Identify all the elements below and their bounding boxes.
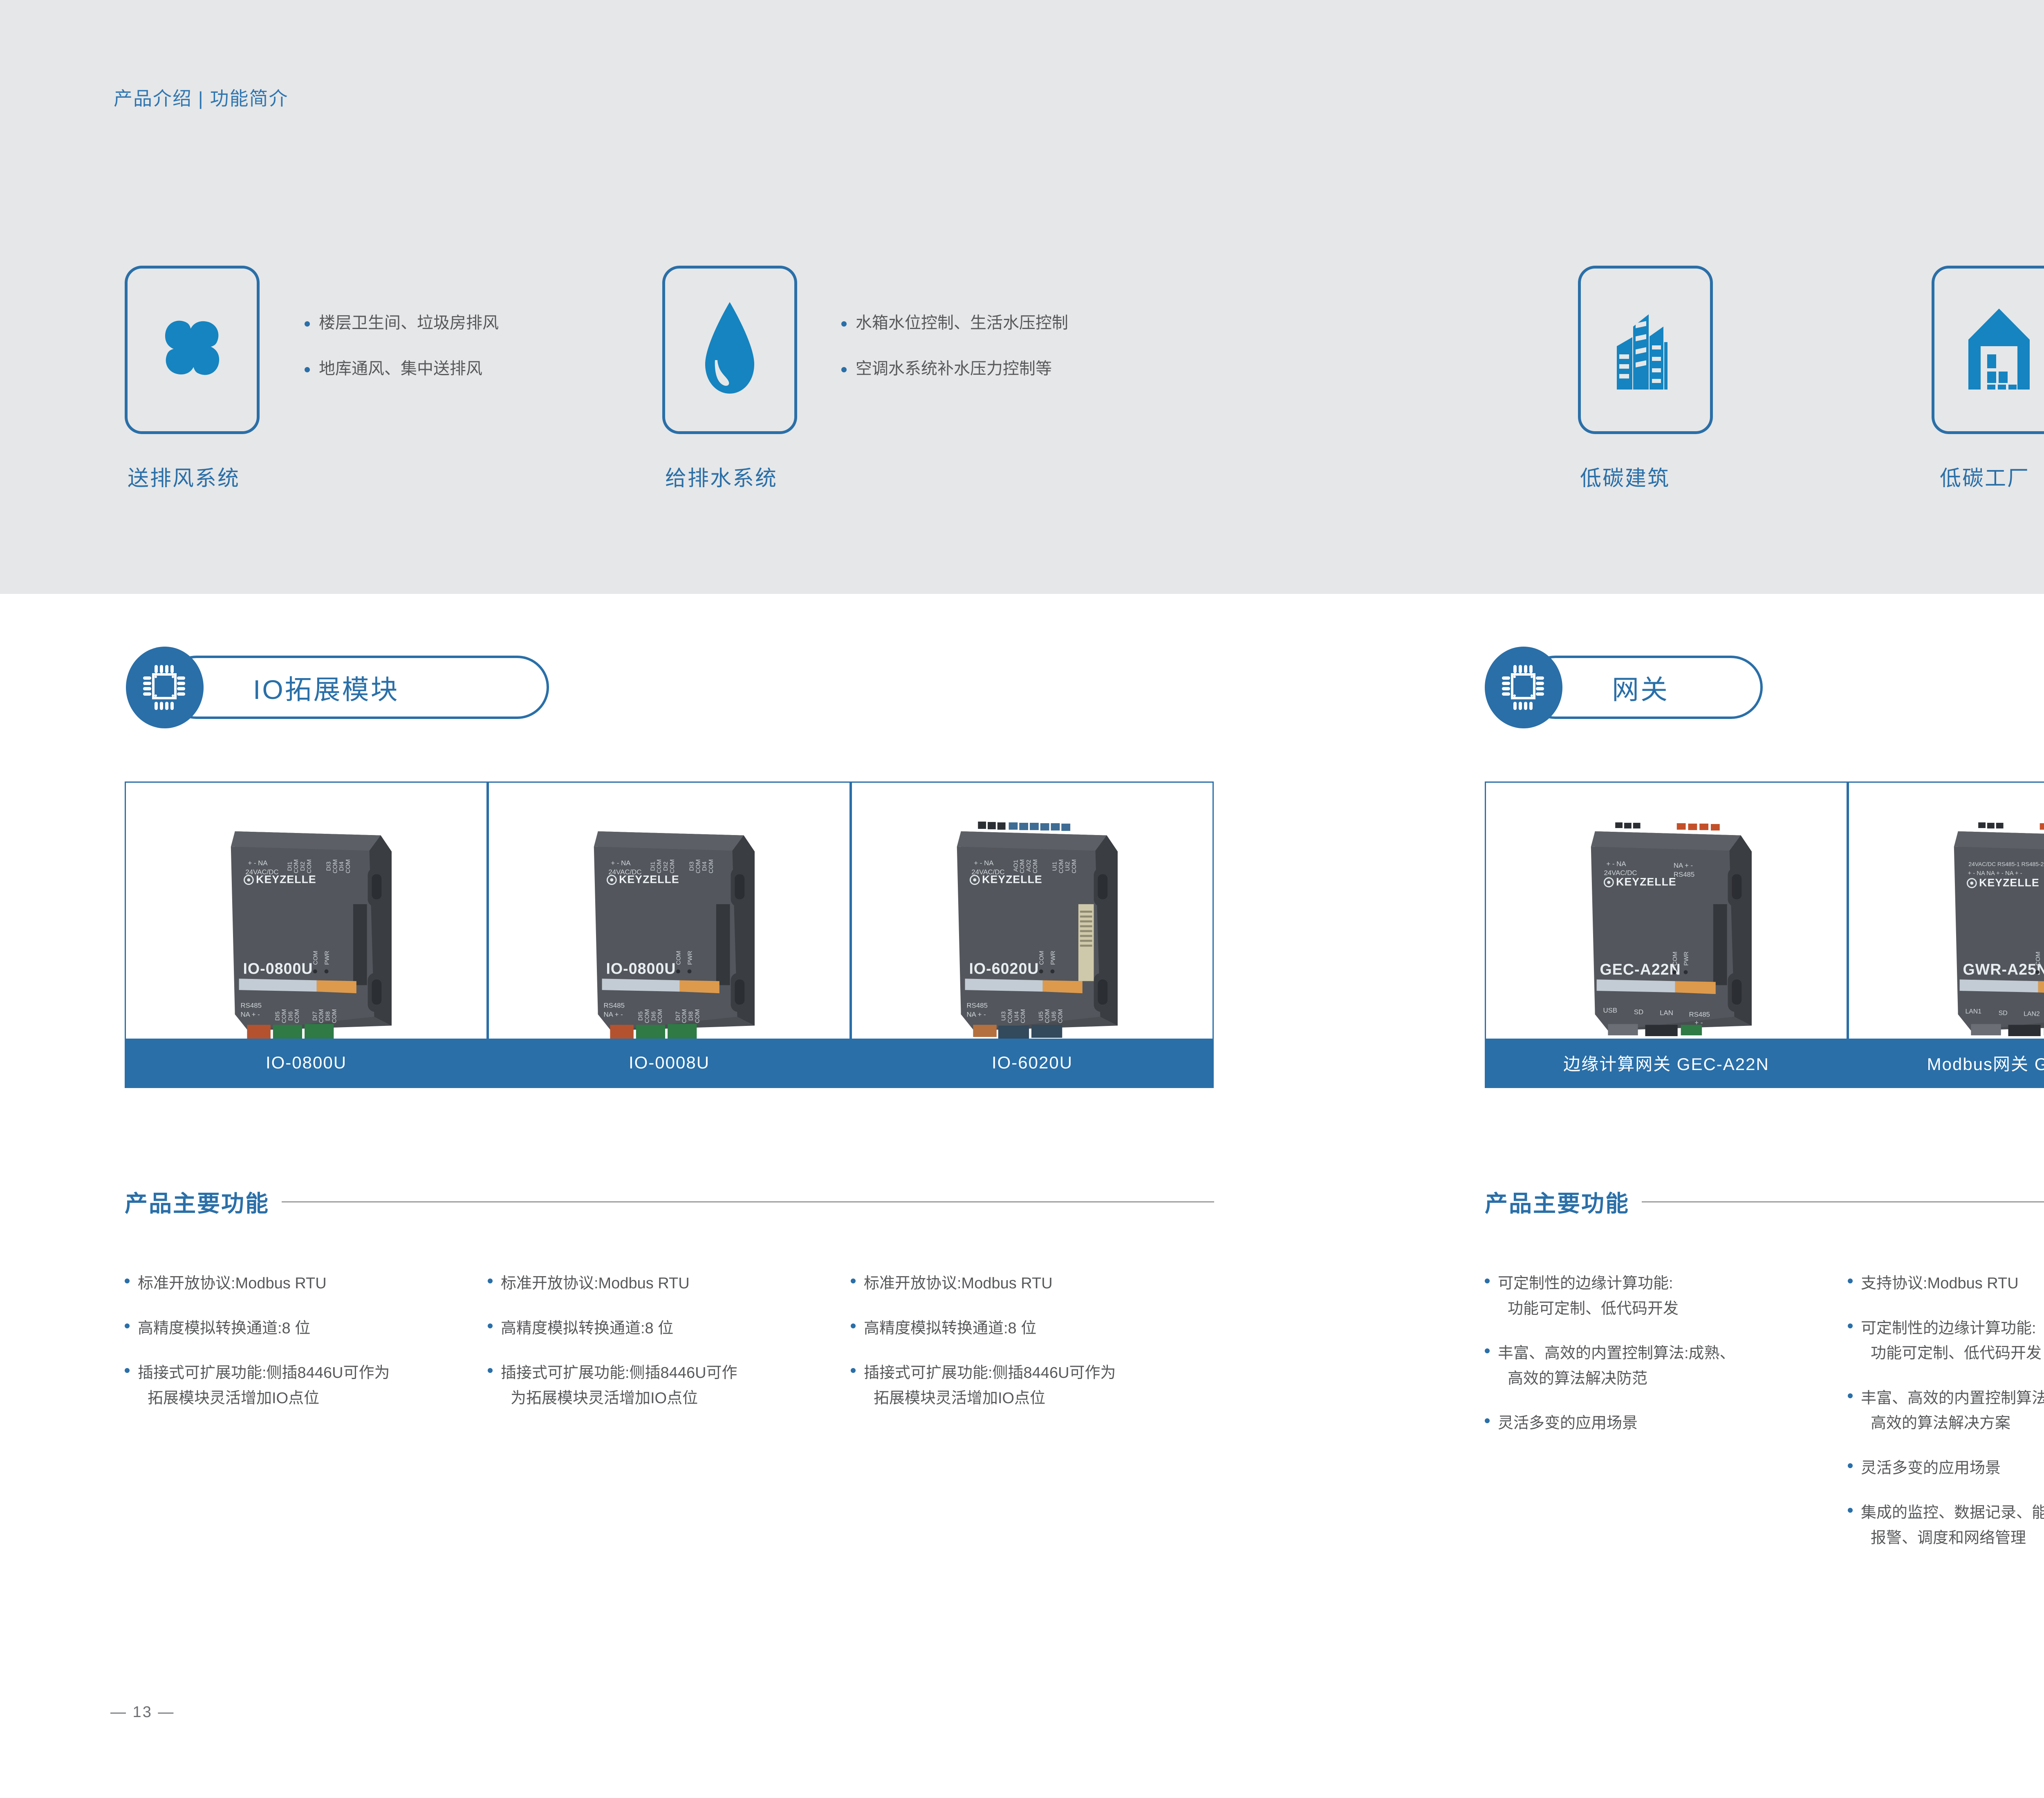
svg-text:DI1: DI1	[650, 862, 656, 871]
svg-text:COM: COM	[1019, 859, 1026, 873]
svg-text:COM: COM	[345, 859, 352, 873]
svg-text:COM: COM	[676, 951, 682, 965]
brochure-spread: 产品介绍 | 功能简介 产品介绍 | 功能简介 楼层卫生间、垃圾房排风 地库通风…	[0, 0, 2044, 1798]
section-badge-label-io: IO拓展模块	[253, 668, 399, 707]
feature-item: 灵活多变的应用场景	[1848, 1456, 2044, 1481]
svg-text:PWR: PWR	[1683, 952, 1690, 966]
bullet-dot	[841, 367, 847, 372]
heading-rule	[1642, 1201, 2044, 1202]
feature-line: 灵活多变的应用场景	[1861, 1460, 2001, 1477]
svg-text:COM: COM	[708, 859, 715, 873]
top-grey-band	[0, 0, 2044, 594]
svg-text:COM: COM	[1039, 951, 1045, 965]
feature-line: 拓展模块灵活增加IO点位	[864, 1390, 1045, 1407]
feature-line: 拓展模块灵活增加IO点位	[138, 1390, 319, 1407]
svg-text:COM: COM	[332, 859, 338, 873]
svg-text:NA + -: NA + -	[1674, 862, 1693, 869]
fan-icon	[151, 306, 233, 394]
product-photo-gec-a22n: + - NA 24VAC/DC NA + - RS485 KEYZELLE GE…	[1486, 783, 1847, 1039]
svg-text:COM: COM	[2035, 952, 2042, 966]
svg-text:UI3: UI3	[1001, 1011, 1007, 1021]
feature-item: 插接式可扩展功能:侧插8446U可作为 拓展模块灵活增加IO点位	[125, 1361, 464, 1411]
svg-text:COM: COM	[695, 859, 702, 873]
svg-text:KEYZELLE: KEYZELLE	[1616, 876, 1676, 888]
feature-dot	[851, 1279, 856, 1283]
bullet-item: 楼层卫生间、垃圾房排风	[305, 315, 499, 331]
chip-icon	[1485, 647, 1562, 728]
page-number-left: — 13 —	[110, 1704, 175, 1721]
feature-item: 集成的监控、数据记录、能耗计量、 报警、调度和网络管理	[1848, 1500, 2044, 1551]
water-drop-icon	[697, 299, 762, 401]
feature-dot	[125, 1323, 130, 1328]
svg-text:COM: COM	[1672, 952, 1679, 966]
feature-dot	[851, 1368, 856, 1373]
svg-text:RS485: RS485	[967, 1002, 988, 1010]
svg-text:UI5: UI5	[1038, 1011, 1044, 1021]
svg-text:NA + -: NA + -	[241, 1011, 260, 1019]
feature-dot	[125, 1279, 130, 1283]
feature-line: 灵活多变的应用场景	[1498, 1415, 1638, 1432]
svg-text:LAN1: LAN1	[1966, 1008, 1982, 1015]
feature-column: 标准开放协议:Modbus RTU 高精度模拟转换通道:8 位 插接式可扩展功能…	[488, 1271, 827, 1431]
svg-text:DI4: DI4	[702, 862, 708, 871]
svg-text:COM: COM	[656, 859, 663, 873]
svg-text:COM: COM	[281, 1009, 287, 1023]
heading-rule	[282, 1201, 1214, 1202]
svg-text:COM: COM	[1058, 859, 1065, 873]
feature-line: 插接式可扩展功能:侧插8446U可作为	[138, 1364, 390, 1382]
svg-text:KEYZELLE: KEYZELLE	[619, 873, 679, 886]
scenario-caption-building: 低碳建筑	[1580, 461, 1670, 492]
app-bullets-fan: 楼层卫生间、垃圾房排风 地库通风、集中送排风	[305, 315, 499, 377]
svg-text:UI4: UI4	[1013, 1011, 1020, 1021]
svg-text:DI5: DI5	[275, 1011, 281, 1021]
product-photo-io-0008u: + - NA 24VAC/DC DI1 COM DI2 COM DI3 COM …	[489, 783, 849, 1039]
section-badge-label-gateway: 网关	[1612, 668, 1669, 707]
product-label: 边缘计算网关 GEC-A22N	[1486, 1039, 1847, 1087]
svg-text:COM: COM	[313, 951, 319, 965]
feature-column: 可定制性的边缘计算功能: 功能可定制、低代码开发 丰富、高效的内置控制算法:成熟…	[1485, 1271, 1824, 1456]
svg-text:IO-0800U: IO-0800U	[243, 960, 313, 977]
svg-text:IO-0800U: IO-0800U	[606, 960, 676, 977]
chip-icon	[126, 647, 204, 728]
svg-text:DI7: DI7	[675, 1011, 681, 1021]
bullet-item: 空调水系统补水压力控制等	[841, 360, 1068, 377]
feature-line: 功能可定制、低代码开发	[1861, 1345, 2042, 1362]
svg-text:COM: COM	[1044, 1009, 1051, 1023]
factory-icon	[1964, 303, 2034, 397]
svg-text:DI6: DI6	[287, 1011, 294, 1021]
svg-text:DI8: DI8	[688, 1011, 694, 1021]
feature-dot	[488, 1323, 493, 1328]
feature-item: 插接式可扩展功能:侧插8446U可作 为拓展模块灵活增加IO点位	[488, 1361, 827, 1411]
svg-text:USB: USB	[1603, 1007, 1617, 1014]
feature-dot	[1848, 1393, 1853, 1398]
svg-text:SD: SD	[1999, 1010, 2008, 1017]
feature-item: 丰富、高效的内置控制算法:成熟、 高效的算法解决防范	[1485, 1341, 1824, 1391]
svg-text:+ - NA NA + - NA + -: + - NA NA + - NA + -	[1968, 870, 2022, 877]
bullet-text: 空调水系统补水压力控制等	[856, 360, 1052, 377]
feature-line: 标准开放协议:Modbus RTU	[864, 1275, 1053, 1292]
feature-dot	[851, 1323, 856, 1328]
product-card[interactable]: + - NA 24VAC/DC DI1 COM DI2 COM DI3 COM …	[125, 781, 488, 1088]
svg-text:UI2: UI2	[1065, 862, 1071, 871]
feature-line: 可定制性的边缘计算功能:	[1498, 1275, 1673, 1292]
feature-dot	[1848, 1279, 1853, 1283]
running-header-left: 产品介绍 | 功能简介	[114, 84, 289, 111]
svg-text:SD: SD	[1634, 1008, 1643, 1016]
feature-dot	[1485, 1348, 1490, 1353]
features-heading-io: 产品主要功能	[125, 1185, 1214, 1218]
svg-text:NA + -: NA + -	[604, 1011, 623, 1019]
feature-dot	[1485, 1418, 1490, 1423]
product-card[interactable]: + - NA 24VAC/DC AO1 COM AO2 COM UI1 COM …	[851, 781, 1214, 1088]
svg-text:COM: COM	[1057, 1009, 1064, 1023]
svg-text:PWR: PWR	[687, 951, 693, 965]
feature-dot	[1848, 1463, 1853, 1468]
product-photo-io-6020u: + - NA 24VAC/DC AO1 COM AO2 COM UI1 COM …	[852, 783, 1213, 1039]
svg-text:RS485: RS485	[1689, 1011, 1710, 1019]
feature-column: 标准开放协议:Modbus RTU 高精度模拟转换通道:8 位 插接式可扩展功能…	[125, 1271, 464, 1431]
feature-line: 功能可定制、低代码开发	[1498, 1300, 1679, 1317]
svg-text:KEYZELLE: KEYZELLE	[1979, 877, 2040, 889]
svg-text:KEYZELLE: KEYZELLE	[982, 873, 1042, 886]
svg-text:PWR: PWR	[324, 951, 330, 965]
feature-dot	[488, 1279, 493, 1283]
features-heading-text: 产品主要功能	[1485, 1185, 1629, 1218]
svg-text:LAN: LAN	[1660, 1009, 1673, 1017]
feature-item: 灵活多变的应用场景	[1485, 1411, 1824, 1436]
svg-text:IO-6020U: IO-6020U	[969, 960, 1039, 977]
feature-line: 高精度模拟转换通道:8 位	[501, 1320, 673, 1337]
features-heading-text: 产品主要功能	[125, 1185, 269, 1218]
svg-text:DI2: DI2	[663, 862, 669, 871]
feature-line: 丰富、高效的内置控制算法:成熟、	[1861, 1390, 2044, 1407]
feature-item: 可定制性的边缘计算功能: 功能可定制、低代码开发	[1848, 1316, 2044, 1366]
app-caption-fan: 送排风系统	[128, 461, 240, 492]
feature-item: 高精度模拟转换通道:8 位	[125, 1316, 464, 1341]
svg-text:DI8: DI8	[325, 1011, 331, 1021]
svg-text:DI7: DI7	[312, 1011, 318, 1021]
feature-line: 集成的监控、数据记录、能耗计量、	[1861, 1504, 2044, 1521]
svg-text:AO2: AO2	[1026, 860, 1032, 872]
feature-item: 可定制性的边缘计算功能: 功能可定制、低代码开发	[1485, 1271, 1824, 1321]
svg-text:UI6: UI6	[1051, 1011, 1057, 1021]
svg-text:COM: COM	[694, 1009, 701, 1023]
svg-text:PWR: PWR	[1050, 951, 1056, 965]
product-photo-io-0800u: + - NA 24VAC/DC DI1 COM DI2 COM DI3 COM …	[126, 783, 486, 1039]
feature-line: 高效的算法解决防范	[1498, 1370, 1647, 1387]
scenario-icon-frame-building	[1578, 266, 1713, 434]
feature-line: 可定制性的边缘计算功能:	[1861, 1320, 2036, 1337]
feature-column: 支持协议:Modbus RTU 可定制性的边缘计算功能: 功能可定制、低代码开发…	[1848, 1271, 2044, 1570]
svg-text:RS485: RS485	[1674, 871, 1694, 878]
product-label: IO-0800U	[126, 1039, 486, 1087]
product-label: IO-0008U	[489, 1039, 849, 1087]
feature-dot	[125, 1368, 130, 1373]
svg-text:COM: COM	[1007, 1009, 1013, 1023]
feature-line: 插接式可扩展功能:侧插8446U可作	[501, 1364, 737, 1382]
bullet-item: 地库通风、集中送排风	[305, 360, 499, 377]
svg-text:DI2: DI2	[300, 862, 306, 871]
svg-text:DI4: DI4	[338, 862, 345, 871]
feature-item: 高精度模拟转换通道:8 位	[851, 1316, 1190, 1341]
feature-dot	[1485, 1279, 1490, 1283]
svg-text:COM: COM	[294, 1009, 300, 1023]
app-caption-water: 给排水系统	[665, 461, 778, 492]
svg-text:NA + -: NA + -	[967, 1011, 986, 1019]
feature-line: 支持协议:Modbus RTU	[1861, 1275, 2019, 1292]
feature-item: 插接式可扩展功能:侧插8446U可作为 拓展模块灵活增加IO点位	[851, 1361, 1190, 1411]
product-card[interactable]: + - NA 24VAC/DC DI1 COM DI2 COM DI3 COM …	[488, 781, 851, 1088]
feature-line: 丰富、高效的内置控制算法:成熟、	[1498, 1345, 1735, 1362]
product-card[interactable]: + - NA 24VAC/DC NA + - RS485 KEYZELLE GE…	[1485, 781, 1848, 1088]
office-building-icon	[1609, 303, 1682, 397]
svg-text:LAN2: LAN2	[2024, 1011, 2040, 1018]
feature-line: 报警、调度和网络管理	[1861, 1529, 2026, 1547]
feature-item: 标准开放协议:Modbus RTU	[125, 1271, 464, 1296]
feature-item: 支持协议:Modbus RTU	[1848, 1271, 2044, 1296]
bullet-text: 地库通风、集中送排风	[319, 360, 482, 377]
bullet-dot	[305, 321, 310, 327]
svg-text:COM: COM	[669, 859, 676, 873]
feature-line: 高精度模拟转换通道:8 位	[138, 1320, 310, 1337]
feature-line: 标准开放协议:Modbus RTU	[138, 1275, 327, 1292]
bullet-item: 水箱水位控制、生活水压控制	[841, 315, 1068, 331]
svg-text:DI5: DI5	[638, 1011, 644, 1021]
svg-text:DI1: DI1	[287, 862, 293, 871]
app-icon-frame-fan	[125, 266, 260, 434]
svg-text:UI1: UI1	[1051, 862, 1058, 871]
svg-text:24VAC/DC RS485-1 RS485-2: 24VAC/DC RS485-1 RS485-2	[1968, 861, 2044, 867]
bullet-text: 楼层卫生间、垃圾房排风	[319, 315, 499, 331]
svg-text:+ - NA: + - NA	[611, 859, 631, 867]
feature-line: 插接式可扩展功能:侧插8446U可作为	[864, 1364, 1116, 1382]
svg-text:DI3: DI3	[325, 862, 332, 871]
svg-text:RS485: RS485	[604, 1002, 625, 1010]
bullet-dot	[305, 367, 310, 372]
feature-item: 标准开放协议:Modbus RTU	[851, 1271, 1190, 1296]
feature-item: 丰富、高效的内置控制算法:成熟、 高效的算法解决方案	[1848, 1386, 2044, 1436]
svg-text:COM: COM	[657, 1009, 663, 1023]
product-label: Modbus网关 GWR-A25N	[1849, 1039, 2044, 1087]
feature-dot	[1848, 1508, 1853, 1513]
svg-text:+ - NA: + - NA	[248, 859, 268, 867]
features-heading-gateway: 产品主要功能	[1485, 1185, 2044, 1218]
svg-text:COM: COM	[681, 1009, 688, 1023]
feature-line: 标准开放协议:Modbus RTU	[501, 1275, 690, 1292]
svg-text:AO1: AO1	[1013, 860, 1019, 872]
app-bullets-water: 水箱水位控制、生活水压控制 空调水系统补水压力控制等	[841, 315, 1068, 377]
product-card[interactable]: 24VAC/DC RS485-1 RS485-2 + - NA NA + - N…	[1848, 781, 2044, 1088]
bullet-text: 水箱水位控制、生活水压控制	[856, 315, 1068, 331]
feature-line: 为拓展模块灵活增加IO点位	[501, 1390, 698, 1407]
svg-text:COM: COM	[331, 1009, 338, 1023]
svg-text:RS485: RS485	[241, 1002, 262, 1010]
svg-text:DI3: DI3	[688, 862, 695, 871]
product-label: IO-6020U	[852, 1039, 1213, 1087]
feature-dot	[488, 1368, 493, 1373]
svg-text:DI6: DI6	[650, 1011, 657, 1021]
svg-text:COM: COM	[1020, 1009, 1026, 1023]
svg-text:+ - NA: + - NA	[974, 859, 994, 867]
svg-text:COM: COM	[1032, 859, 1039, 873]
scenario-icon-frame-factory	[1932, 266, 2044, 434]
bullet-dot	[841, 321, 847, 327]
product-photo-gwr-a25n: 24VAC/DC RS485-1 RS485-2 + - NA NA + - N…	[1849, 783, 2044, 1039]
svg-text:COM: COM	[306, 859, 313, 873]
app-icon-frame-water	[662, 266, 797, 434]
feature-column: 标准开放协议:Modbus RTU 高精度模拟转换通道:8 位 插接式可扩展功能…	[851, 1271, 1190, 1431]
feature-line: 高精度模拟转换通道:8 位	[864, 1320, 1036, 1337]
svg-text:GEC-A22N: GEC-A22N	[1600, 961, 1681, 978]
svg-text:GWR-A25N: GWR-A25N	[1963, 961, 2044, 978]
svg-text:COM: COM	[318, 1009, 325, 1023]
svg-text:COM: COM	[1071, 859, 1078, 873]
svg-text:KEYZELLE: KEYZELLE	[256, 873, 316, 886]
scenario-caption-factory: 低碳工厂	[1940, 461, 2030, 492]
svg-text:COM: COM	[293, 859, 300, 873]
feature-item: 高精度模拟转换通道:8 位	[488, 1316, 827, 1341]
feature-dot	[1848, 1323, 1853, 1328]
feature-line: 高效的算法解决方案	[1861, 1415, 2010, 1432]
feature-item: 标准开放协议:Modbus RTU	[488, 1271, 827, 1296]
svg-text:COM: COM	[644, 1009, 650, 1023]
svg-text:+ - NA: + - NA	[1606, 860, 1626, 868]
